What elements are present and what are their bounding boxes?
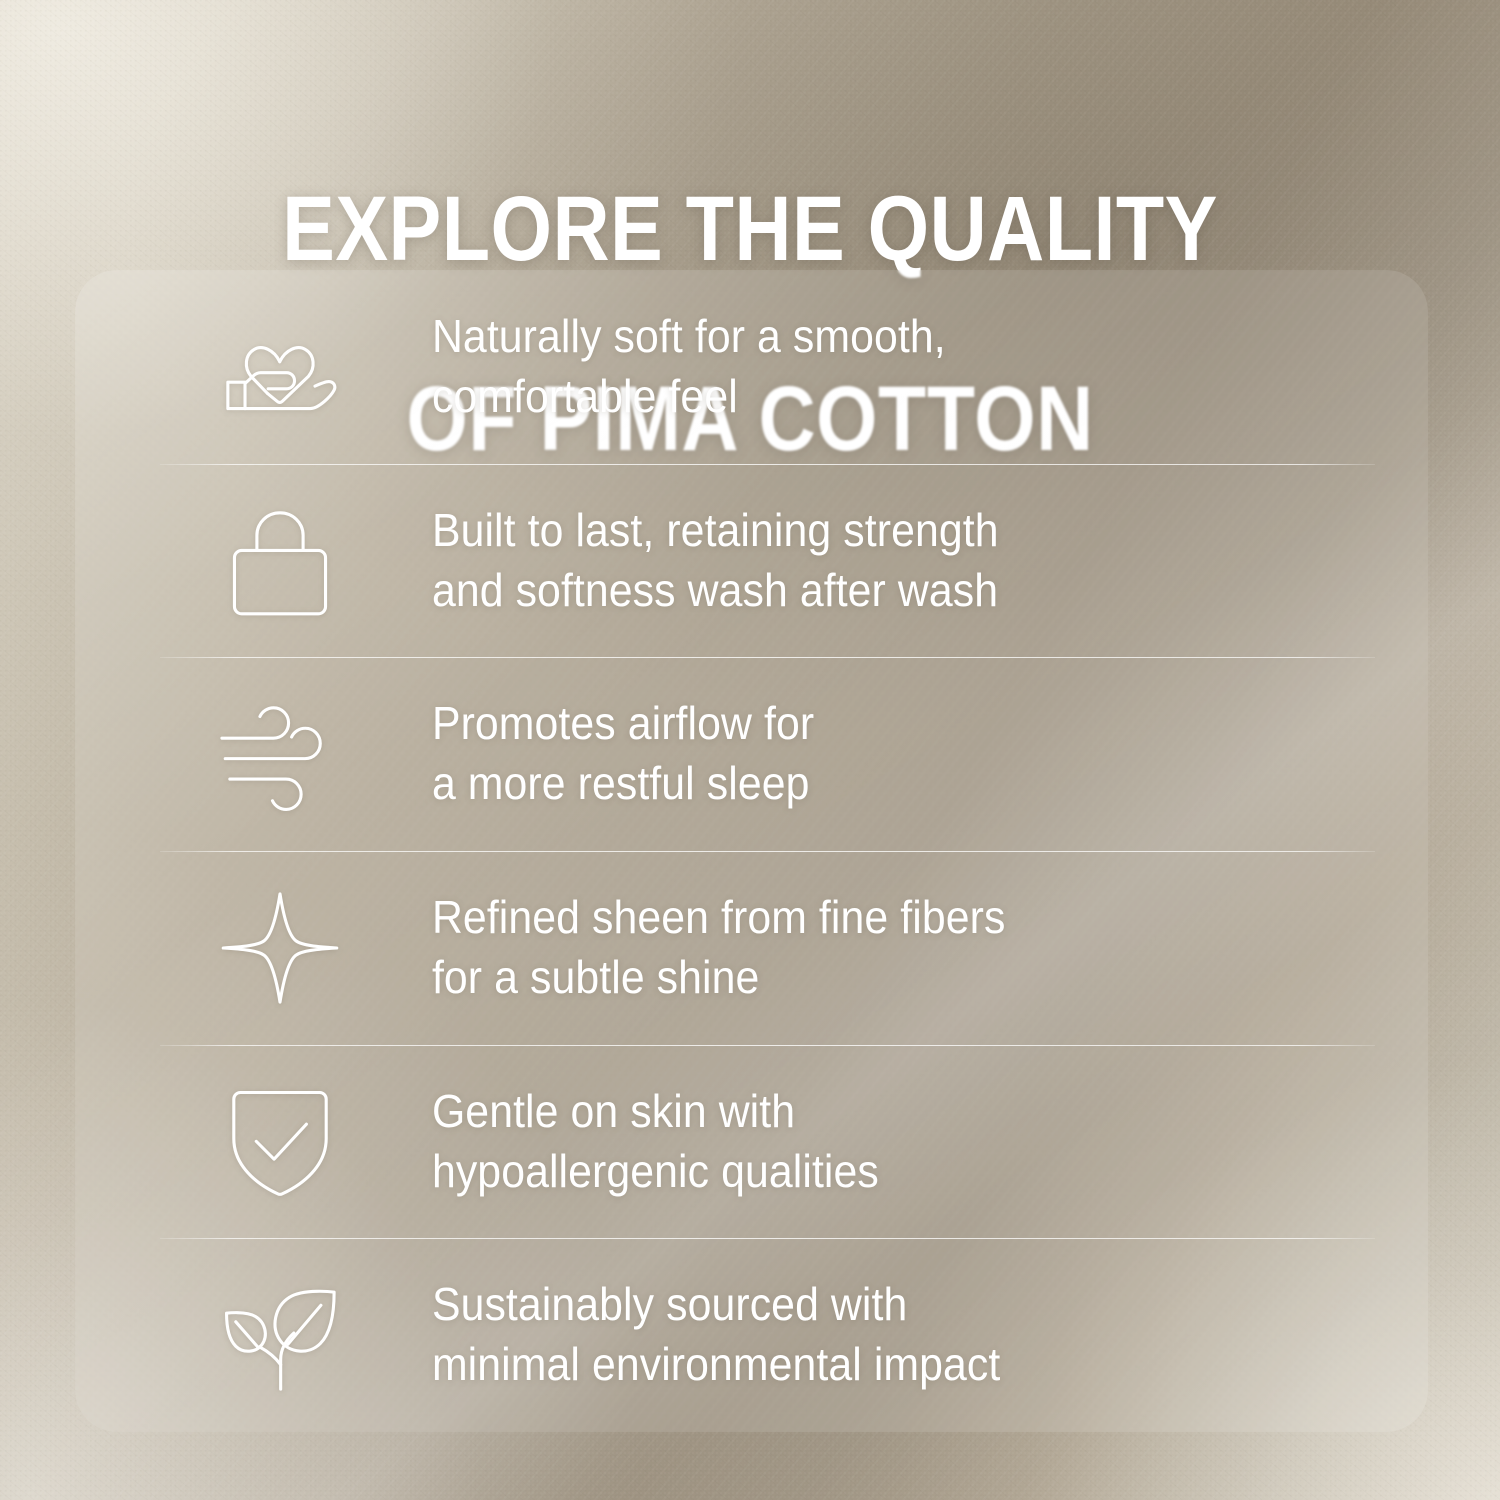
feature-line-1: Refined sheen from fine fibers <box>432 888 1355 948</box>
feature-row-breathability: Promotes airflow for a more restful slee… <box>75 657 1428 851</box>
feature-line-2: and softness wash after wash <box>432 561 1355 621</box>
feature-text-softness: Naturally soft for a smooth, comfortable… <box>378 307 1355 427</box>
features-list: Naturally soft for a smooth, comfortable… <box>75 270 1428 1432</box>
feature-text-breathability: Promotes airflow for a more restful slee… <box>378 694 1355 814</box>
shield-check-icon <box>182 1072 378 1212</box>
feature-text-sustainability: Sustainably sourced with minimal environ… <box>378 1275 1355 1395</box>
leaf-plant-icon <box>182 1265 378 1405</box>
wind-airflow-icon <box>182 684 378 824</box>
feature-line-1: Naturally soft for a smooth, <box>432 307 1355 367</box>
infographic-page: EXPLORE THE QUALITY OF PIMA COTTON Natur… <box>0 0 1500 1500</box>
feature-line-2: for a subtle shine <box>432 948 1355 1008</box>
feature-row-sheen: Refined sheen from fine fibers for a sub… <box>75 851 1428 1045</box>
feature-row-hypoallergenic: Gentle on skin with hypoallergenic quali… <box>75 1045 1428 1239</box>
feature-line-2: minimal environmental impact <box>432 1335 1355 1395</box>
feature-text-sheen: Refined sheen from fine fibers for a sub… <box>378 888 1355 1008</box>
feature-row-softness: Naturally soft for a smooth, comfortable… <box>75 270 1428 464</box>
page-title-line-1: EXPLORE THE QUALITY <box>105 182 1395 277</box>
sparkle-star-icon <box>182 878 378 1018</box>
feature-line-1: Promotes airflow for <box>432 694 1355 754</box>
feature-text-durability: Built to last, retaining strength and so… <box>378 501 1355 621</box>
features-card: Naturally soft for a smooth, comfortable… <box>75 270 1428 1432</box>
feature-line-2: comfortable feel <box>432 367 1355 427</box>
feature-line-1: Built to last, retaining strength <box>432 501 1355 561</box>
feature-line-1: Sustainably sourced with <box>432 1275 1355 1335</box>
feature-line-2: a more restful sleep <box>432 754 1355 814</box>
feature-row-durability: Built to last, retaining strength and so… <box>75 464 1428 658</box>
hand-holding-heart-icon <box>182 297 378 437</box>
lock-icon <box>182 491 378 631</box>
feature-line-2: hypoallergenic qualities <box>432 1142 1355 1202</box>
feature-text-hypoallergenic: Gentle on skin with hypoallergenic quali… <box>378 1082 1355 1202</box>
feature-row-sustainability: Sustainably sourced with minimal environ… <box>75 1238 1428 1432</box>
feature-line-1: Gentle on skin with <box>432 1082 1355 1142</box>
